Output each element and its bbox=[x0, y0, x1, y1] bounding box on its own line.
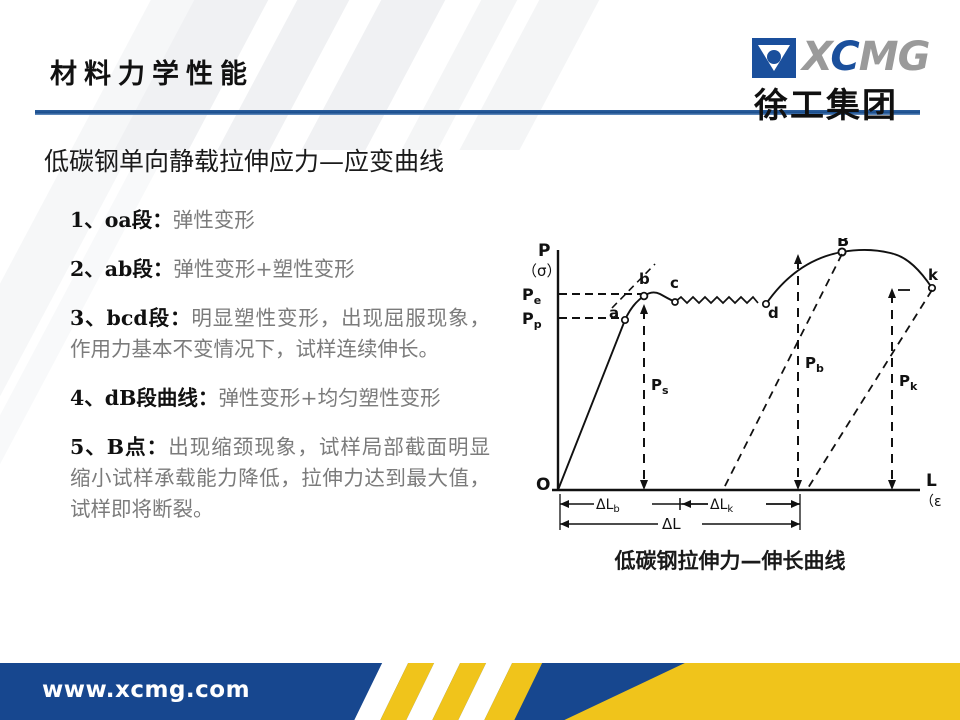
chart-svg: P （σ） Pe Pp O L （ε a b c d B k Ps Pb Pk … bbox=[512, 238, 952, 538]
data-point-c bbox=[672, 299, 678, 305]
arrow-right-icon bbox=[791, 520, 800, 528]
curve-segment-dB bbox=[766, 250, 894, 304]
list-item-label: 2、ab段： bbox=[70, 257, 173, 281]
pk-arrow-up-icon bbox=[888, 288, 896, 298]
list-item: 4、dB段曲线：弹性变形+均匀塑性变形 bbox=[70, 383, 490, 414]
page-title: 材料力学性能 bbox=[50, 52, 254, 91]
list-item: 3、bcd段：明显塑性变形，出现屈服现象，作用力基本不变情况下，试样连续伸长。 bbox=[70, 303, 490, 365]
point-label-k: k bbox=[928, 266, 939, 284]
point-label-c: c bbox=[670, 274, 679, 292]
y-tick-label-pe: Pe bbox=[522, 285, 541, 307]
chart-caption: 低碳钢拉伸力—伸长曲线 bbox=[560, 545, 900, 575]
data-point-b bbox=[641, 293, 648, 300]
ps-arrow-icon bbox=[640, 480, 648, 490]
logo-wordmark-x: X bbox=[802, 34, 830, 80]
list-item-text: 弹性变形+均匀塑性变形 bbox=[218, 386, 440, 410]
annotation-delta-l: ΔL bbox=[662, 515, 681, 533]
list-item: 1、oa段：弹性变形 bbox=[70, 205, 490, 236]
circle-shape-icon bbox=[767, 50, 781, 64]
arrow-left-icon bbox=[560, 520, 569, 528]
xcmg-logo: XCMG 徐工集团 bbox=[752, 36, 952, 114]
origin-label: O bbox=[536, 475, 550, 495]
data-point-a bbox=[622, 317, 628, 323]
background-stripe-decoration bbox=[301, 0, 466, 150]
logo-wordmark: XCMG bbox=[802, 34, 929, 80]
unloading-line-B bbox=[724, 254, 842, 488]
y-tick-label-pp: Pp bbox=[522, 309, 542, 331]
footer-bar: www.xcmg.com bbox=[0, 663, 960, 720]
list-item-text: 弹性变形 bbox=[173, 208, 255, 232]
arrow-left-icon bbox=[560, 500, 569, 508]
logo-chinese-name: 徐工集团 bbox=[754, 78, 898, 127]
curve-segment-bc bbox=[644, 292, 675, 302]
x-axis-label: L bbox=[926, 471, 937, 491]
point-label-d: d bbox=[768, 304, 779, 322]
list-item-label: 3、bcd段： bbox=[70, 306, 191, 330]
annotation-ps: Ps bbox=[651, 376, 669, 397]
list-item-label: 1、oa段： bbox=[70, 208, 173, 232]
pb-arrow-up-icon bbox=[794, 254, 802, 264]
bullet-list: 1、oa段：弹性变形 2、ab段：弹性变形+塑性变形 3、bcd段：明显塑性变形… bbox=[70, 205, 490, 543]
curve-segment-cd-plateau bbox=[675, 297, 758, 303]
list-item-text: 弹性变形+塑性变形 bbox=[173, 257, 354, 281]
annotation-pk: Pk bbox=[899, 372, 918, 393]
footer-url: www.xcmg.com bbox=[42, 677, 250, 703]
background-stripe-decoration bbox=[459, 0, 620, 150]
logo-wordmark-mg: MG bbox=[859, 34, 930, 80]
stress-strain-chart: P （σ） Pe Pp O L （ε a b c d B k Ps Pb Pk … bbox=[512, 238, 952, 538]
section-subtitle: 低碳钢单向静载拉伸应力—应变曲线 bbox=[44, 142, 444, 178]
y-axis-label: P bbox=[538, 241, 550, 261]
point-label-b: b bbox=[639, 270, 650, 288]
curve-segment-oa bbox=[558, 296, 644, 490]
annotation-pb: Pb bbox=[805, 354, 824, 375]
pb-arrow-icon bbox=[794, 480, 802, 490]
list-item: 2、ab段：弹性变形+塑性变形 bbox=[70, 254, 490, 285]
ps-arrow-up-icon bbox=[640, 304, 648, 314]
pk-arrow-icon bbox=[888, 480, 896, 490]
background-stripe-decoration bbox=[401, 0, 538, 150]
slide-canvas: 材料力学性能 XCMG 徐工集团 低碳钢单向静载拉伸应力—应变曲线 1、oa段：… bbox=[0, 0, 960, 720]
xcmg-emblem-icon bbox=[752, 38, 796, 78]
list-item: 5、B点：出现缩颈现象，试样局部截面明显缩小试样承载能力降低，拉伸力达到最大值，… bbox=[70, 432, 490, 525]
list-item-label: 5、B点： bbox=[70, 435, 168, 459]
list-item-label: 4、dB段曲线： bbox=[70, 386, 218, 410]
logo-wordmark-c: C bbox=[830, 34, 858, 80]
arrow-left-icon bbox=[682, 500, 691, 508]
x-axis-sublabel: （ε bbox=[920, 494, 942, 510]
point-label-a: a bbox=[609, 304, 619, 322]
y-axis-sublabel: （σ） bbox=[522, 262, 562, 280]
point-label-B: B bbox=[837, 238, 849, 250]
curve-segment-Bk bbox=[894, 254, 932, 288]
